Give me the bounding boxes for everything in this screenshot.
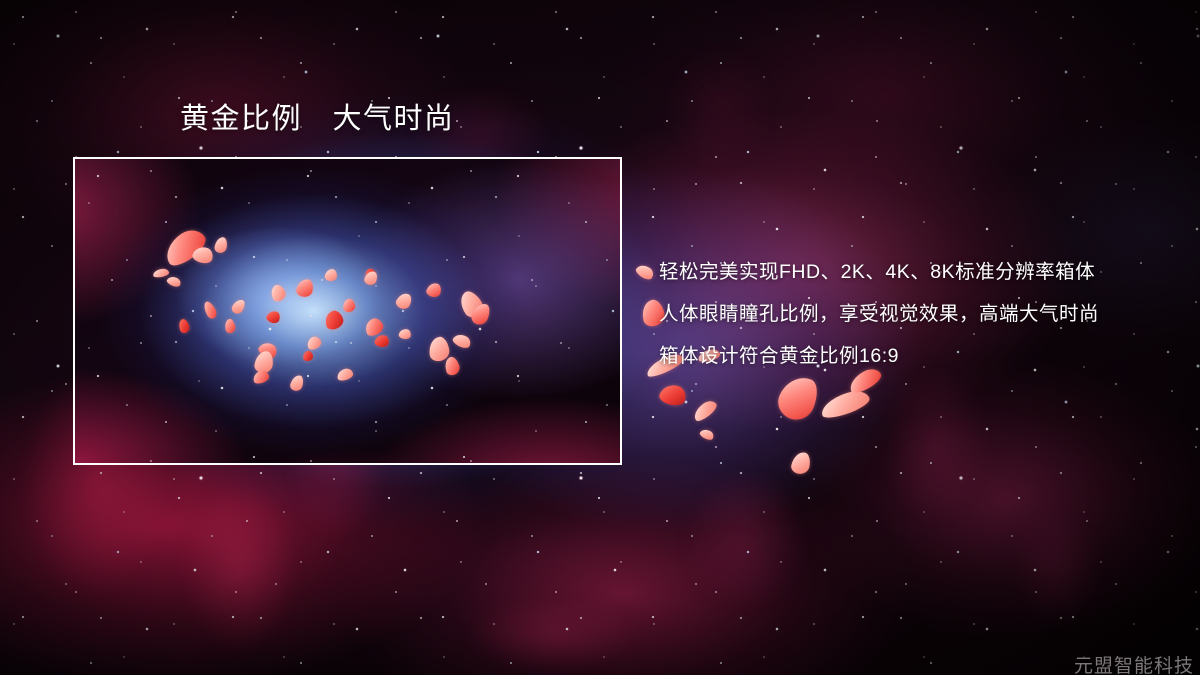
slide-body-text: 轻松完美实现FHD、2K、4K、8K标准分辨率箱体 人体眼睛瞳孔比例，享受视觉效…: [659, 257, 1179, 383]
presentation-slide: 黄金比例 大气时尚 轻松完美实现FHD、2K、4K、8K标准分辨率箱体 人体眼睛…: [0, 0, 1200, 675]
watermark-label: 元盟智能科技: [1074, 651, 1194, 675]
body-line: 箱体设计符合黄金比例16:9: [659, 341, 1179, 383]
frame-inner: [75, 159, 620, 463]
body-line: 人体眼睛瞳孔比例，享受视觉效果，高端大气时尚: [659, 299, 1179, 341]
image-frame-panel: [73, 157, 622, 465]
slide-title: 黄金比例 大气时尚: [180, 101, 455, 137]
body-line: 轻松完美实现FHD、2K、4K、8K标准分辨率箱体: [659, 257, 1179, 299]
